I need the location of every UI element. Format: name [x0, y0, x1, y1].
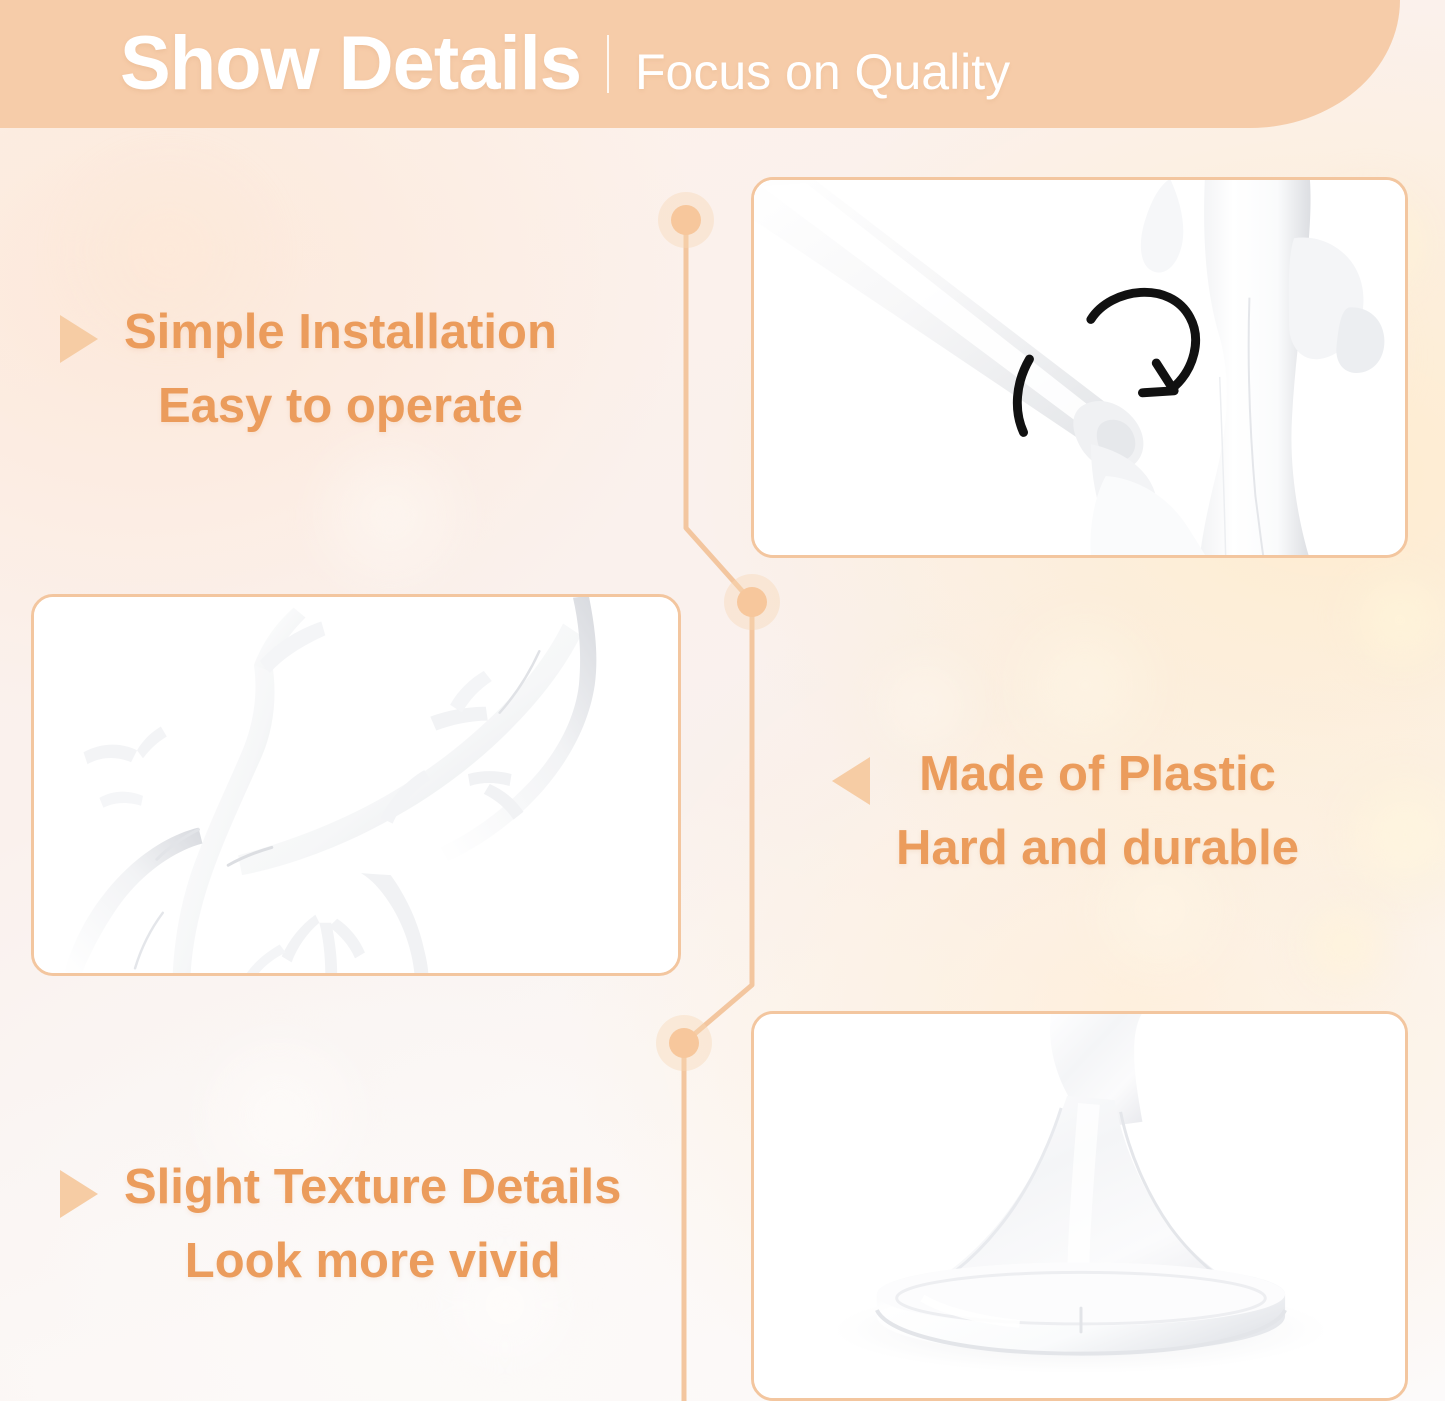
- header-banner-content: Show Details Focus on Quality: [120, 26, 1010, 102]
- feature-slight-texture-details: Slight Texture Details Look more vivid: [60, 1150, 621, 1299]
- feature-text-block: Made of Plastic Hard and durable: [896, 737, 1299, 886]
- feature-line-2: Easy to operate: [158, 369, 523, 443]
- feature-made-of-plastic: Made of Plastic Hard and durable: [832, 737, 1299, 886]
- triangle-right-icon: [60, 315, 98, 363]
- feature-line-2: Hard and durable: [896, 811, 1299, 885]
- feature-line-2: Look more vivid: [185, 1224, 561, 1298]
- connector-node-bottom: [656, 1015, 712, 1071]
- feature-line-1: Made of Plastic: [919, 737, 1276, 811]
- feature-simple-installation: Simple Installation Easy to operate: [60, 295, 557, 444]
- base-photo-panel: [751, 1011, 1408, 1401]
- feature-text-block: Simple Installation Easy to operate: [124, 295, 557, 444]
- triangle-right-icon: [60, 1170, 98, 1218]
- texture-photo-panel: [31, 594, 681, 976]
- texture-photo: [34, 597, 678, 973]
- triangle-left-icon: [832, 757, 870, 805]
- feature-line-1: Slight Texture Details: [124, 1150, 621, 1224]
- feature-line-1: Simple Installation: [124, 295, 557, 369]
- page-subtitle: Focus on Quality: [635, 47, 1010, 97]
- installation-photo: [754, 180, 1405, 555]
- installation-photo-panel: [751, 177, 1408, 558]
- infographic-page: Show Details Focus on Quality: [0, 0, 1445, 1401]
- base-photo: [754, 1014, 1405, 1398]
- page-title: Show Details: [120, 26, 581, 102]
- banner-divider: [607, 35, 609, 93]
- connector-node-top: [658, 192, 714, 248]
- connector-node-middle: [724, 574, 780, 630]
- header-banner: Show Details Focus on Quality: [0, 0, 1400, 128]
- feature-text-block: Slight Texture Details Look more vivid: [124, 1150, 621, 1299]
